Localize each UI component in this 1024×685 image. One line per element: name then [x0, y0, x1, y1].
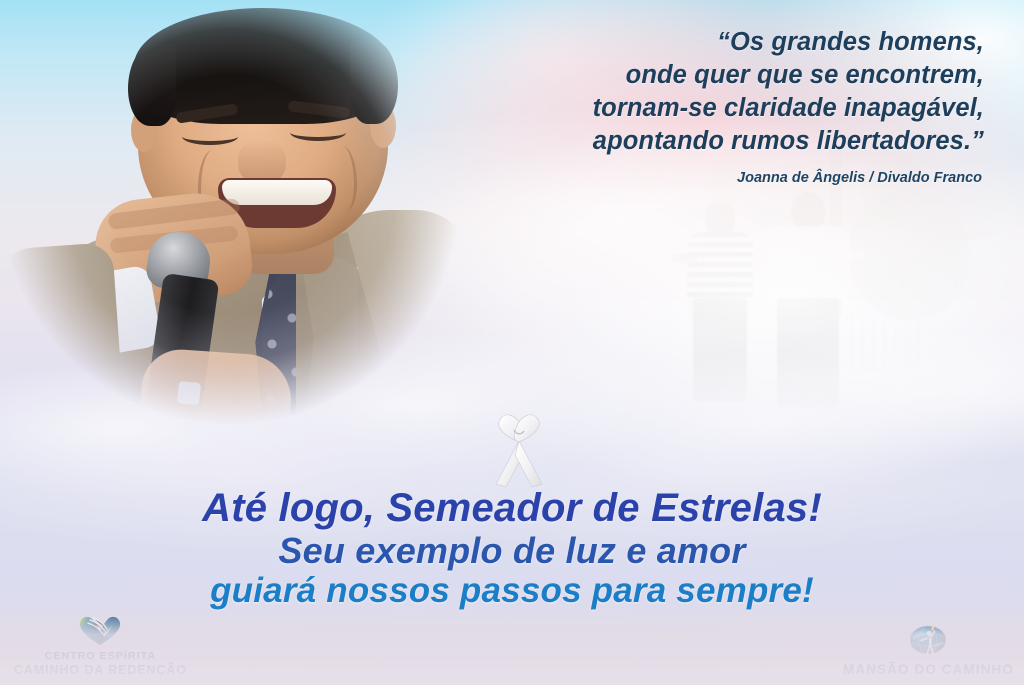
portrait-hair-side-right	[350, 40, 398, 124]
headline-line-3: guiará nossos passos para sempre!	[0, 571, 1024, 611]
headline-line-1: Até logo, Semeador de Estrelas!	[0, 486, 1024, 530]
tribute-poster: “Os grandes homens, onde quer que se enc…	[0, 0, 1024, 685]
headline-line-2: Seu exemplo de luz e amor	[0, 530, 1024, 571]
quote-text: “Os grandes homens, onde quer que se enc…	[444, 26, 984, 158]
portrait-eye-right	[290, 124, 346, 141]
portrait-ring	[177, 381, 201, 405]
quote-line-1: “Os grandes homens,	[444, 26, 984, 59]
portrait-teeth	[222, 180, 332, 205]
quote-line-4: apontando rumos libertadores.”	[444, 125, 984, 158]
portrait-speaker	[0, 0, 470, 470]
quote-line-3: tornam-se claridade inapagável,	[444, 92, 984, 125]
portrait-hair-side-left	[128, 44, 176, 126]
quote-line-2: onde quer que se encontrem,	[444, 59, 984, 92]
headline-block: Até logo, Semeador de Estrelas! Seu exem…	[0, 486, 1024, 611]
portrait-suit-sleeve	[0, 242, 128, 476]
footer-band	[0, 607, 1024, 685]
portrait-hand-mic	[136, 347, 294, 477]
portrait-eye-left	[182, 128, 238, 145]
mourning-ribbon-icon	[484, 410, 554, 488]
quote-attribution: Joanna de Ângelis / Divaldo Franco	[442, 170, 982, 186]
